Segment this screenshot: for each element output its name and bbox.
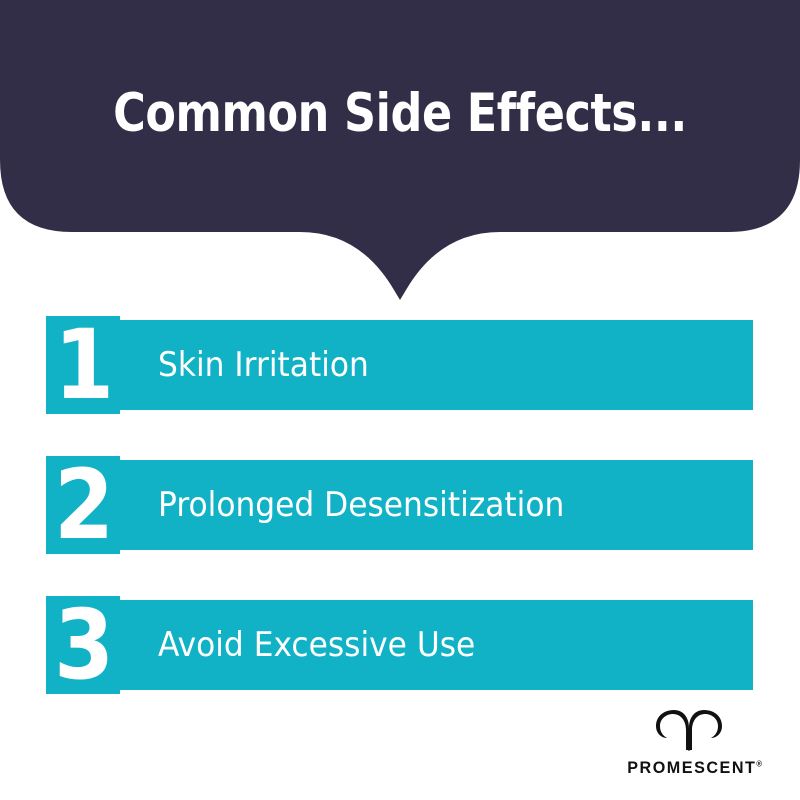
- list-item-number: 3: [54, 596, 112, 694]
- brand-name: PROMESCENT: [627, 758, 756, 777]
- list-item[interactable]: 1 Skin Irritation: [46, 316, 753, 414]
- list-item[interactable]: 3 Avoid Excessive Use: [46, 596, 753, 694]
- header-banner-shape: [0, 0, 800, 300]
- brand-trademark: ®: [756, 759, 762, 768]
- list-item-number: 2: [54, 456, 112, 554]
- brand-logo: PROMESCENT®: [624, 708, 754, 778]
- promescent-aries-mark-icon: [650, 708, 728, 752]
- list-item-label: Prolonged Desensitization: [158, 460, 564, 550]
- list-item-label: Avoid Excessive Use: [158, 600, 475, 690]
- header-banner: [0, 0, 800, 300]
- list-item-number: 1: [54, 316, 112, 414]
- list-item[interactable]: 2 Prolonged Desensitization: [46, 456, 753, 554]
- side-effects-list: 1 Skin Irritation 2 Prolonged Desensitiz…: [46, 316, 753, 736]
- list-item-label: Skin Irritation: [158, 320, 369, 410]
- infographic-canvas: Common Side Effects... 1 Skin Irritation…: [0, 0, 800, 800]
- brand-wordmark: PROMESCENT®: [627, 758, 751, 778]
- page-title: Common Side Effects...: [64, 86, 736, 142]
